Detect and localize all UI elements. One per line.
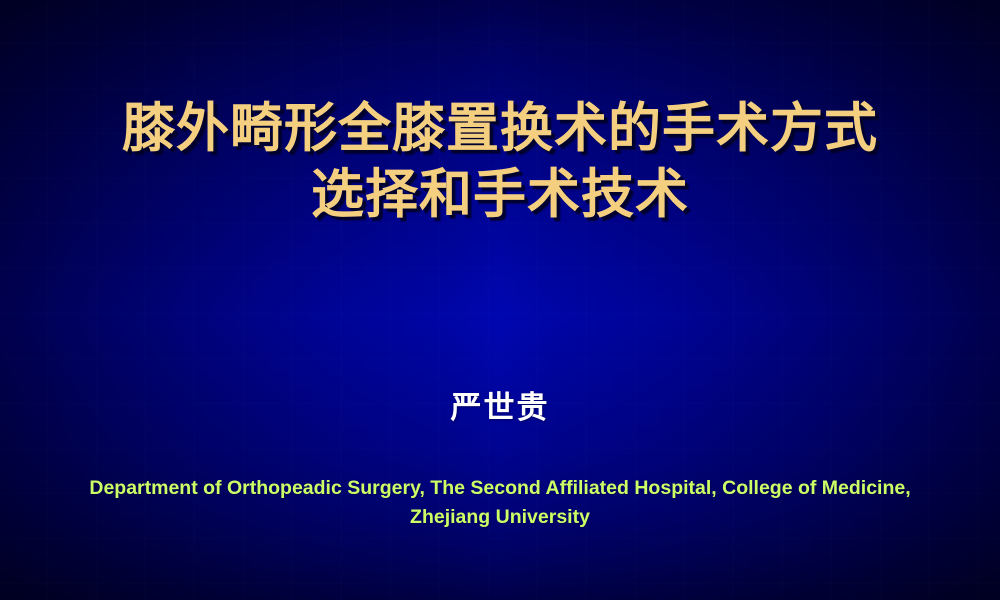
title-line-1: 膝外畸形全膝置换术的手术方式 [0,96,1000,162]
slide-title: 膝外畸形全膝置换术的手术方式 选择和手术技术 [0,96,1000,228]
slide-content: 膝外畸形全膝置换术的手术方式 选择和手术技术 严世贵 Department of… [0,0,1000,600]
affiliation-section: Department of Orthopeadic Surgery, The S… [50,474,950,532]
affiliation-line-2: Zhejiang University [50,503,950,532]
title-line-2: 选择和手术技术 [0,162,1000,228]
author-name: 严世贵 [451,388,550,428]
affiliation-line-1: Department of Orthopeadic Surgery, The S… [50,474,950,503]
author-section: 严世贵 [0,388,1000,428]
presentation-slide: 膝外畸形全膝置换术的手术方式 选择和手术技术 严世贵 Department of… [0,0,1000,600]
